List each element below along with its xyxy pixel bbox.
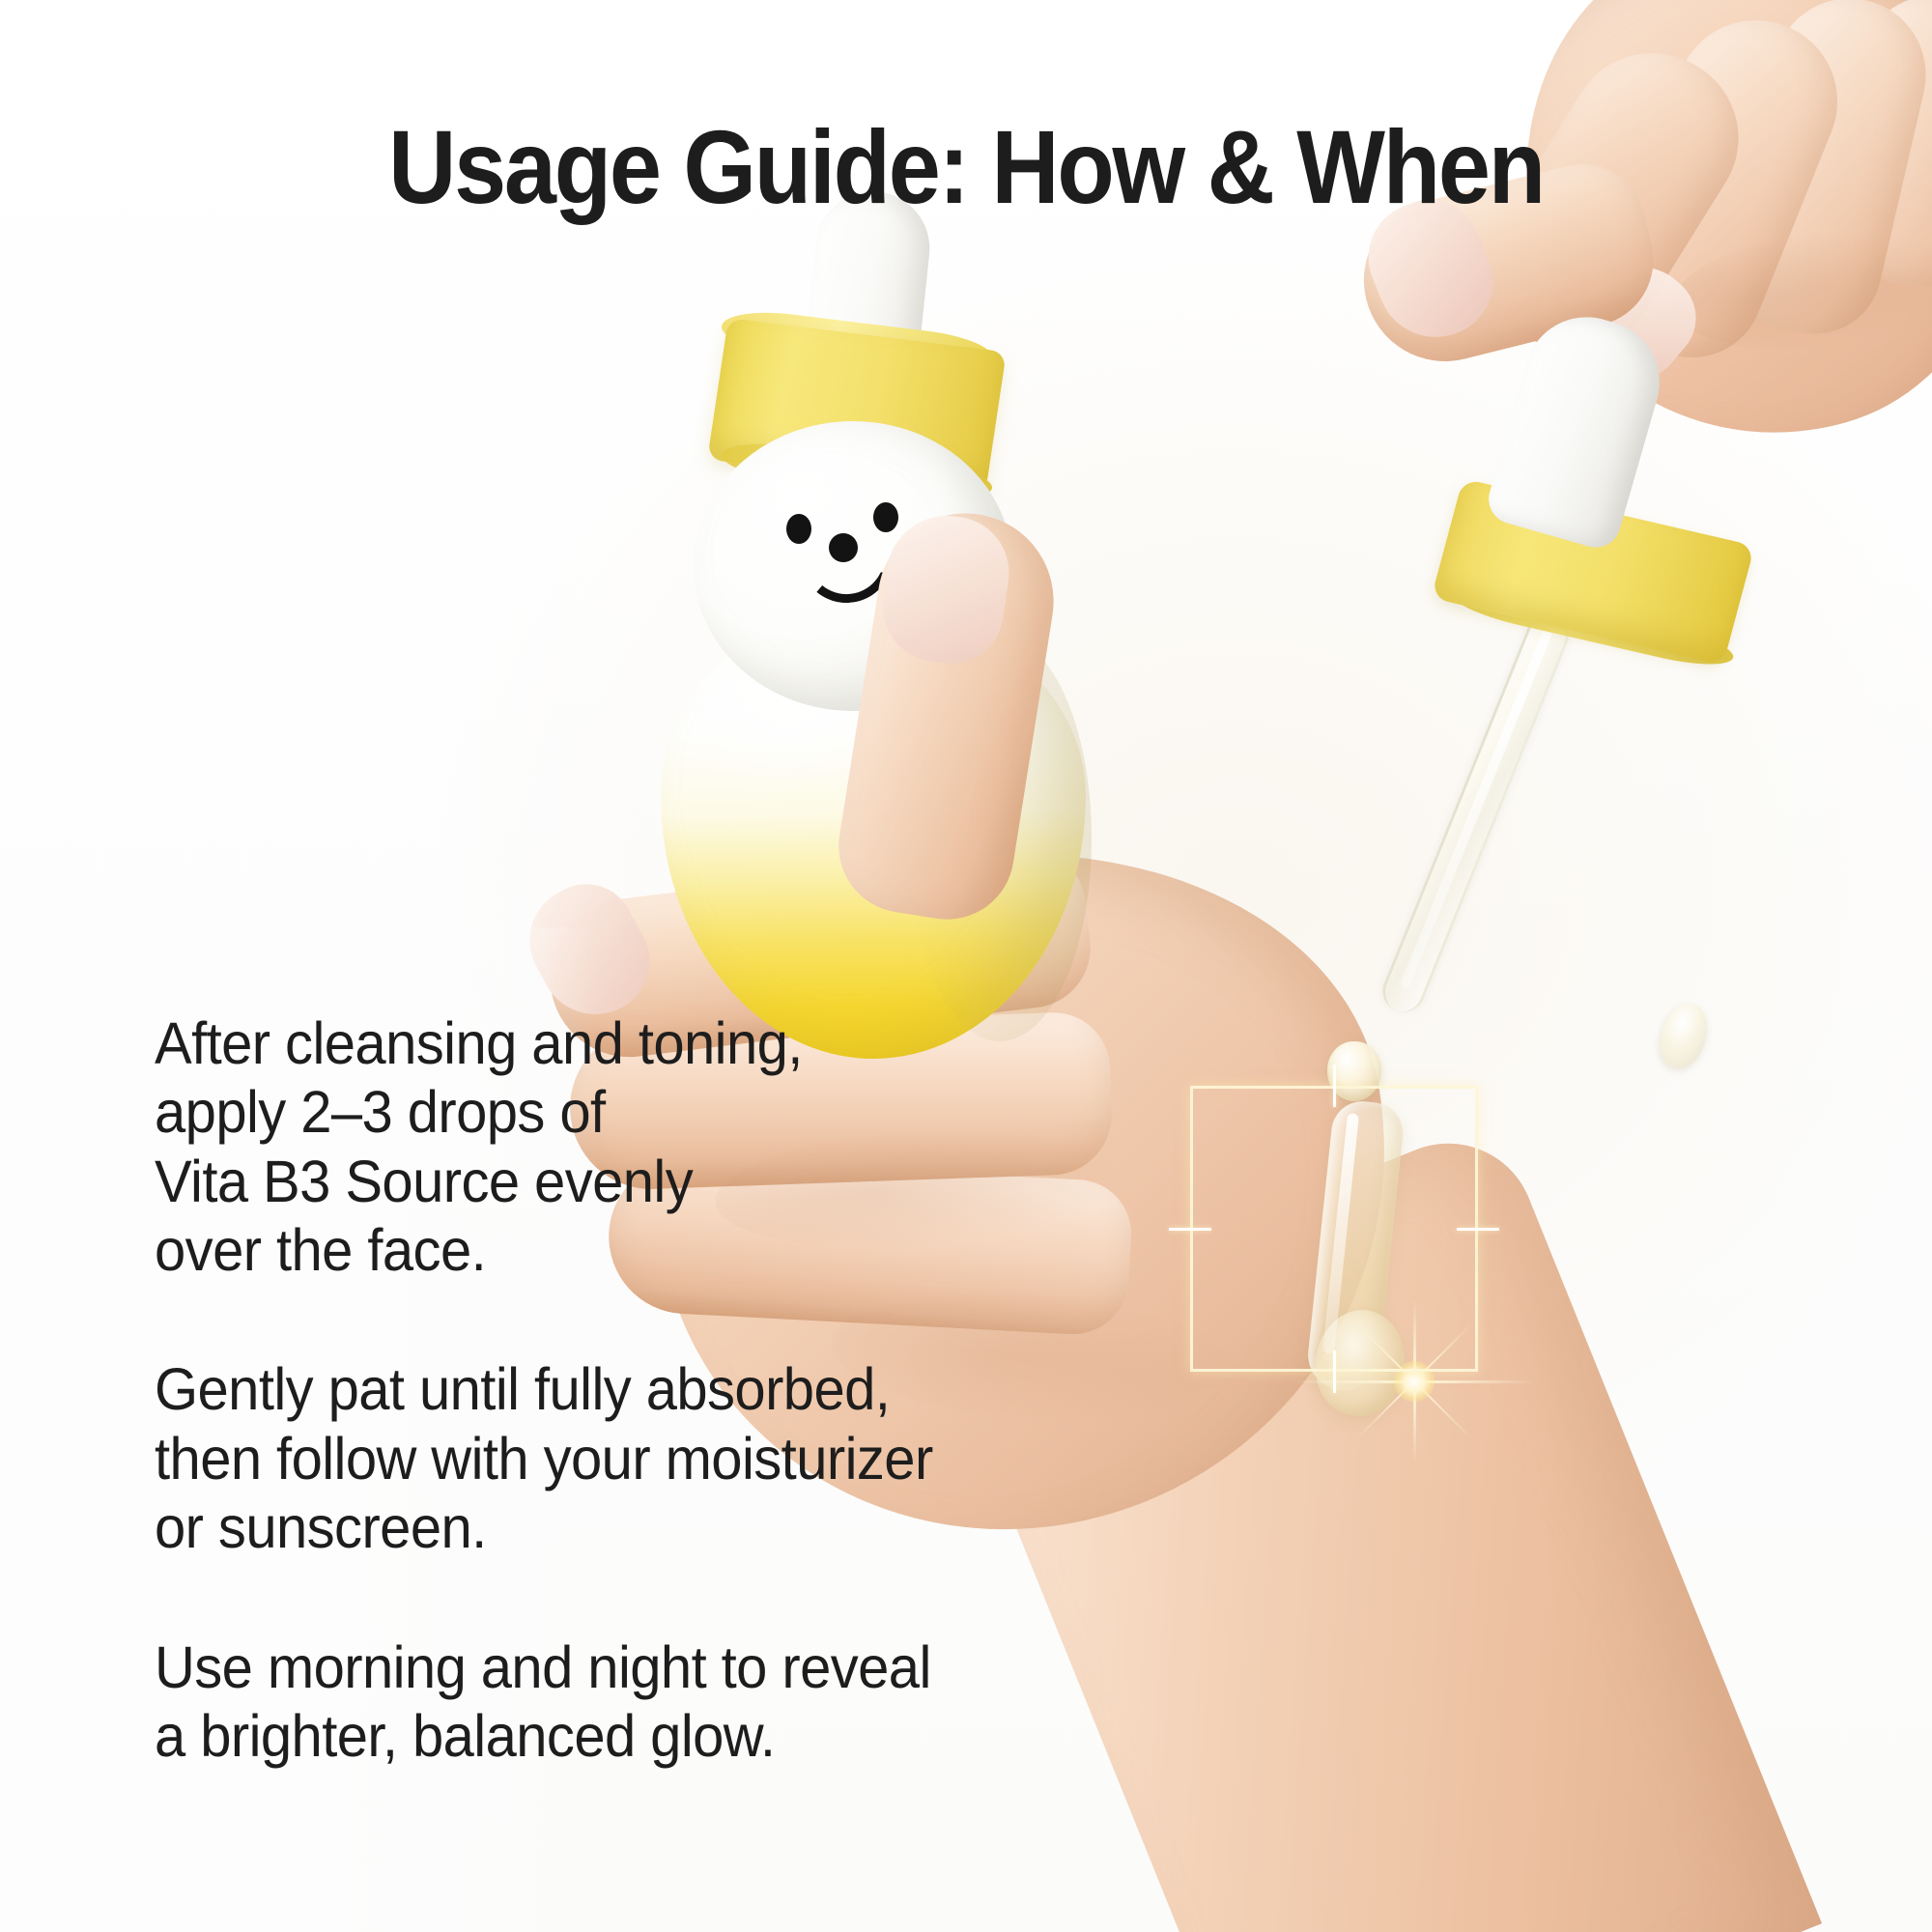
smiley-left-eye [786,514,811,544]
serum-hanging-drop [1327,1041,1381,1101]
instruction-paragraph-2: Gently pat until fully absorbed, then fo… [155,1355,1009,1562]
usage-instructions: After cleansing and toning, apply 2–3 dr… [155,1009,1053,1771]
smiley-right-eye [873,502,898,532]
page-title: Usage Guide: How & When [97,114,1835,220]
instruction-paragraph-3: Use morning and night to reveal a bright… [155,1634,1009,1772]
creative-canvas: Usage Guide: How & When After cleansing … [0,0,1932,1932]
dropper-pipette [1430,386,1758,1304]
dropper-glass-tip [1653,998,1716,1074]
instruction-paragraph-1: After cleansing and toning, apply 2–3 dr… [155,1009,1009,1285]
